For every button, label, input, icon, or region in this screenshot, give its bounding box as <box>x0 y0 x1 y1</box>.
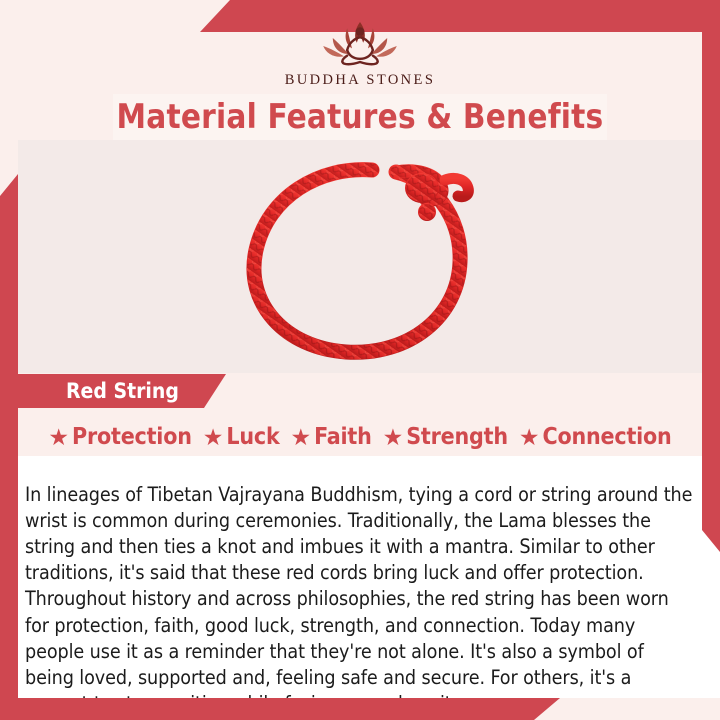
product-name-ribbon: Red String <box>18 374 226 408</box>
benefit-label: Luck <box>226 424 279 450</box>
star-icon: ★ <box>383 426 404 449</box>
star-icon: ★ <box>48 426 69 449</box>
product-name-label: Red String <box>18 379 217 403</box>
benefit-keyword-connection: ★ Connection <box>519 424 672 450</box>
star-icon: ★ <box>291 426 312 449</box>
benefit-label: Connection <box>542 424 671 450</box>
lotus-meditation-icon <box>312 14 408 70</box>
star-icon: ★ <box>203 426 224 449</box>
brand-name: BUDDHA STONES <box>0 72 720 89</box>
star-icon: ★ <box>519 426 540 449</box>
brand-block: BUDDHA STONES <box>0 14 720 89</box>
headline-banner: Material Features & Benefits <box>113 94 607 140</box>
benefit-keyword-faith: ★ Faith <box>291 424 372 450</box>
product-image-panel <box>18 140 702 373</box>
benefit-keyword-luck: ★ Luck <box>203 424 280 450</box>
frame-bottom-bar <box>0 698 560 720</box>
infographic-card: BUDDHA STONES Material Features & Benefi… <box>0 0 720 720</box>
benefit-keyword-row: ★ Protection ★ Luck ★ Faith ★ Strength ★… <box>18 418 702 456</box>
benefit-label: Protection <box>72 424 192 450</box>
benefit-label: Faith <box>314 424 371 450</box>
benefit-keyword-protection: ★ Protection <box>48 424 191 450</box>
frame-left-bar <box>0 174 18 700</box>
benefit-keyword-strength: ★ Strength <box>383 424 508 450</box>
page-title: Material Features & Benefits <box>117 97 604 137</box>
benefit-label: Strength <box>406 424 508 450</box>
description-body: In lineages of Tibetan Vajrayana Buddhis… <box>25 482 697 718</box>
